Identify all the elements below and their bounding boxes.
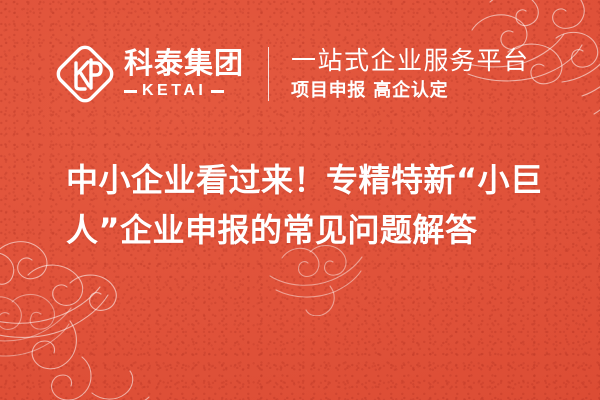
page-title: 中小企业看过来！专精特新“小巨人”企业申报的常见问题解答	[66, 155, 566, 255]
tagline-primary: 一站式企业服务平台	[291, 47, 530, 75]
company-name-en-row: KETAI	[124, 83, 244, 99]
logo-wordmark: 科泰集团 KETAI	[124, 49, 244, 99]
tagline-secondary: 项目申报 高企认定	[291, 81, 530, 101]
company-name-en: KETAI	[142, 83, 206, 99]
dash-icon	[211, 90, 224, 93]
company-name-cn: 科泰集团	[124, 49, 244, 78]
promo-banner: 科泰集团 KETAI 一站式企业服务平台 项目申报 高企认定 中小企业看过来！专…	[0, 0, 600, 400]
vertical-divider-icon	[268, 47, 269, 101]
banner-header: 科泰集团 KETAI 一站式企业服务平台 项目申报 高企认定	[55, 36, 530, 112]
tagline-block: 一站式企业服务平台 项目申报 高企认定	[291, 47, 530, 101]
diamond-kp-monogram-icon	[55, 44, 115, 104]
dash-icon	[124, 90, 137, 93]
